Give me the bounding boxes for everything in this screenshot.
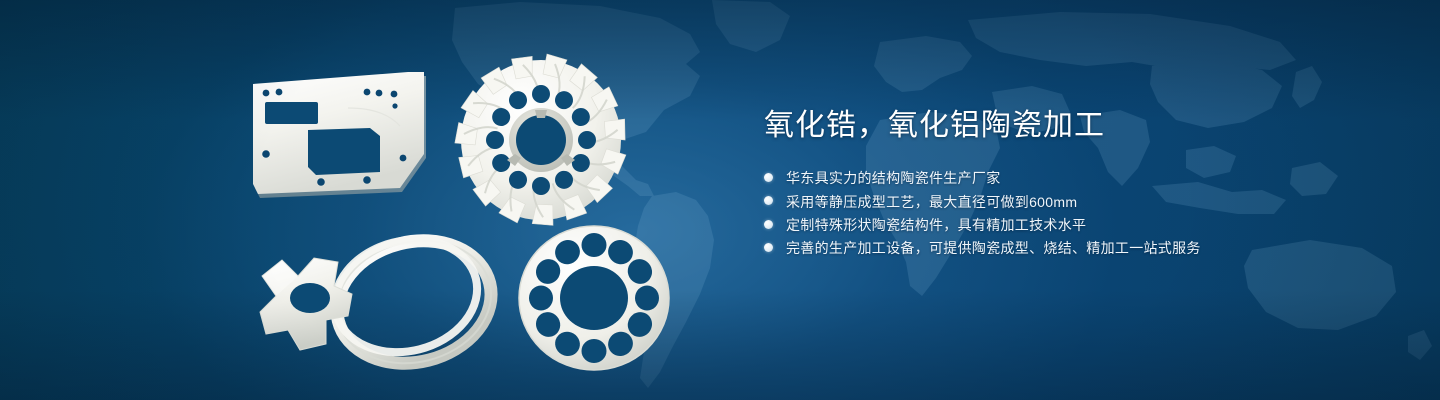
feature-text: 华东具实力的结构陶瓷件生产厂家 <box>786 167 1001 189</box>
banner-headline: 氧化锆，氧化铝陶瓷加工 <box>764 104 1404 148</box>
ceramic-plate-part <box>248 68 438 198</box>
bullet-dot-icon <box>764 173 773 182</box>
ceramic-cross-part <box>246 222 516 377</box>
feature-text: 采用等静压成型工艺，最大直径可做到600mm <box>786 191 1077 213</box>
ceramic-valve-plate-part <box>512 222 677 374</box>
bullet-dot-icon <box>764 243 773 252</box>
ceramic-impeller-part <box>446 48 636 238</box>
list-item: 华东具实力的结构陶瓷件生产厂家 <box>764 166 1404 189</box>
banner-text-block: 氧化锆，氧化铝陶瓷加工 华东具实力的结构陶瓷件生产厂家 采用等静压成型工艺，最大… <box>764 104 1404 259</box>
bullet-dot-icon <box>764 220 773 229</box>
list-item: 完善的生产加工设备，可提供陶瓷成型、烧结、精加工一站式服务 <box>764 236 1404 259</box>
list-item: 采用等静压成型工艺，最大直径可做到600mm <box>764 189 1404 212</box>
feature-text: 完善的生产加工设备，可提供陶瓷成型、烧结、精加工一站式服务 <box>786 237 1201 259</box>
list-item: 定制特殊形状陶瓷结构件，具有精加工技术水平 <box>764 213 1404 236</box>
bullet-dot-icon <box>764 196 773 205</box>
product-image-cluster <box>0 0 720 400</box>
hero-banner: 氧化锆，氧化铝陶瓷加工 华东具实力的结构陶瓷件生产厂家 采用等静压成型工艺，最大… <box>0 0 1440 400</box>
banner-feature-list: 华东具实力的结构陶瓷件生产厂家 采用等静压成型工艺，最大直径可做到600mm 定… <box>764 166 1404 259</box>
feature-text: 定制特殊形状陶瓷结构件，具有精加工技术水平 <box>786 214 1086 236</box>
